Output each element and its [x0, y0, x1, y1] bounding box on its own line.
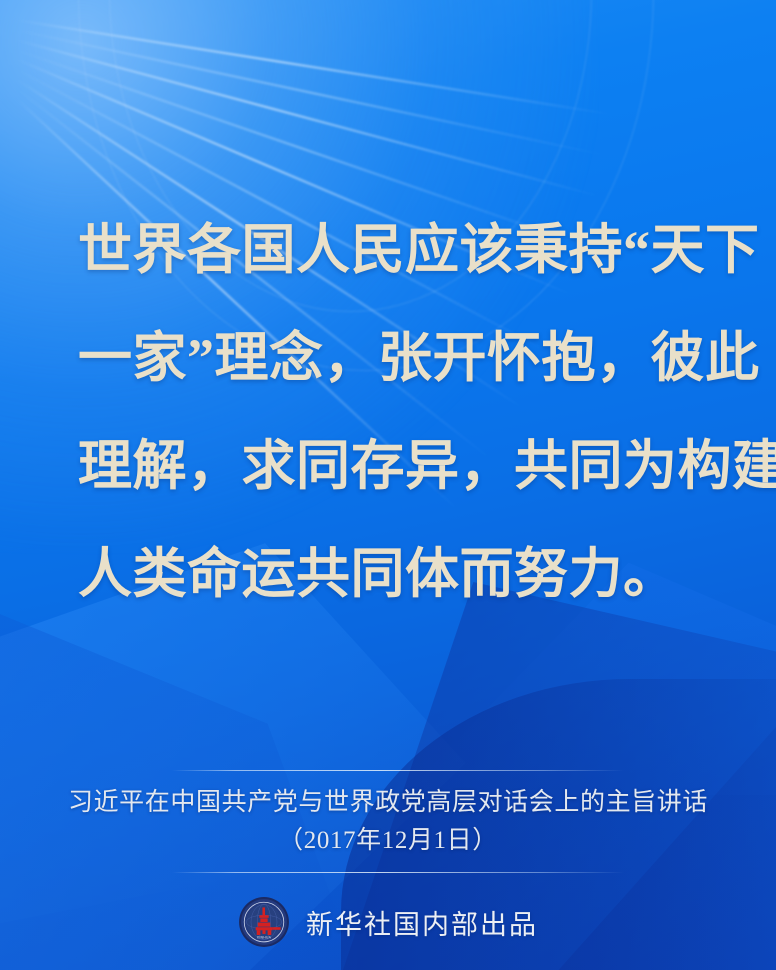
footer-producer-text: 新华社国内部出品 — [306, 903, 538, 942]
quote-line-text: 世界各国人民应该秉持“天下 — [78, 196, 760, 304]
quote-line: 理解，求同存异，共同为构建 — [78, 412, 718, 520]
xinhua-logo-icon: XINHUA — [238, 896, 290, 948]
divider-top — [172, 770, 624, 771]
poster-canvas: 世界各国人民应该秉持“天下 一家”理念，张开怀抱，彼此 理解，求同存异，共同为构… — [0, 0, 776, 970]
quote-line: 一家”理念，张开怀抱，彼此 — [78, 304, 718, 412]
attribution-block: 习近平在中国共产党与世界政党高层对话会上的主旨讲话 （2017年12月1日） — [0, 784, 776, 860]
attribution-date: （2017年12月1日） — [0, 822, 776, 860]
quote-block: 世界各国人民应该秉持“天下 一家”理念，张开怀抱，彼此 理解，求同存异，共同为构… — [78, 196, 718, 628]
quote-line-text: 人类命运共同体而努力。 — [78, 520, 678, 628]
footer-block: XINHUA 新华社国内部出品 — [0, 896, 776, 948]
quote-line: 世界各国人民应该秉持“天下 — [78, 196, 718, 304]
svg-text:XINHUA: XINHUA — [257, 936, 272, 940]
quote-line-text: 理解，求同存异，共同为构建 — [78, 412, 776, 520]
attribution-source: 习近平在中国共产党与世界政党高层对话会上的主旨讲话 — [0, 784, 776, 822]
quote-line: 人类命运共同体而努力。 — [78, 520, 718, 628]
divider-bottom — [172, 872, 624, 873]
quote-line-text: 一家”理念，张开怀抱，彼此 — [78, 304, 760, 412]
